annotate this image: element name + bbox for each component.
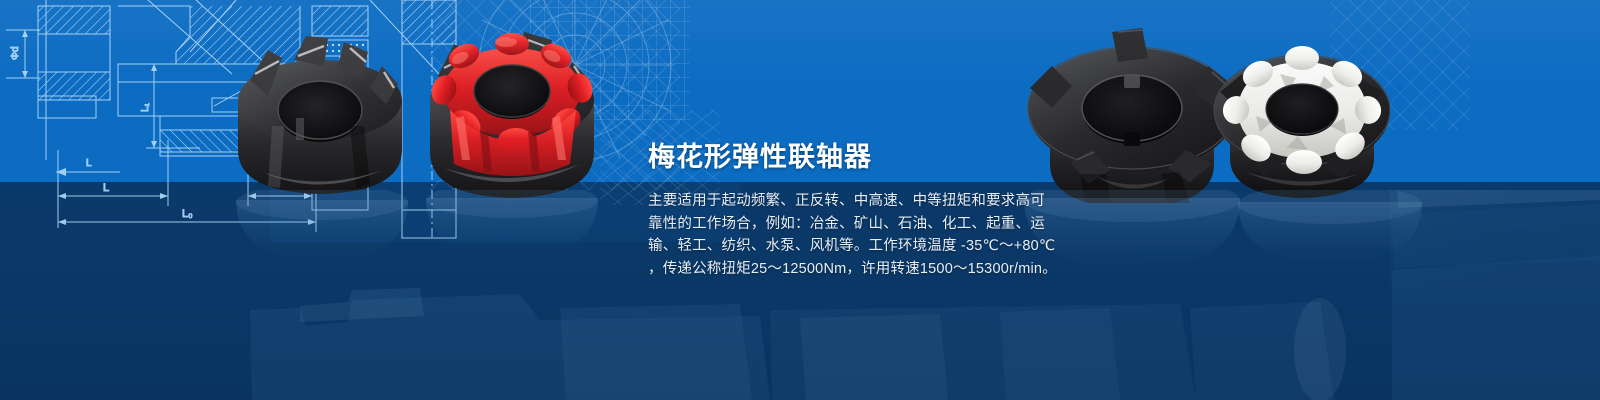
- description-line-1: 主要适用于起动频繁、正反转、中高速、中等扭矩和要求高可: [648, 190, 1048, 213]
- banner-text-block: 梅花形弹性联轴器 主要适用于起动频繁、正反转、中高速、中等扭矩和要求高可 靠性的…: [648, 138, 1078, 280]
- description-line-2: 靠性的工作场合，例如：冶金、矿山、石油、化工、起重、运: [648, 213, 1048, 236]
- page-title: 梅花形弹性联轴器: [648, 138, 1078, 176]
- description-line-3: 输、轻工、纺织、水泵、风机等。工作环境温度 -35℃～+80℃: [648, 235, 1048, 258]
- description-line-4: ，传递公称扭矩25～12500Nm，许用转速1500～15300r/min。: [648, 258, 1048, 281]
- banner-description: 主要适用于起动频繁、正反转、中高速、中等扭矩和要求高可 靠性的工作场合，例如：冶…: [648, 190, 1048, 280]
- product-banner: Φd D₁: [0, 0, 1600, 400]
